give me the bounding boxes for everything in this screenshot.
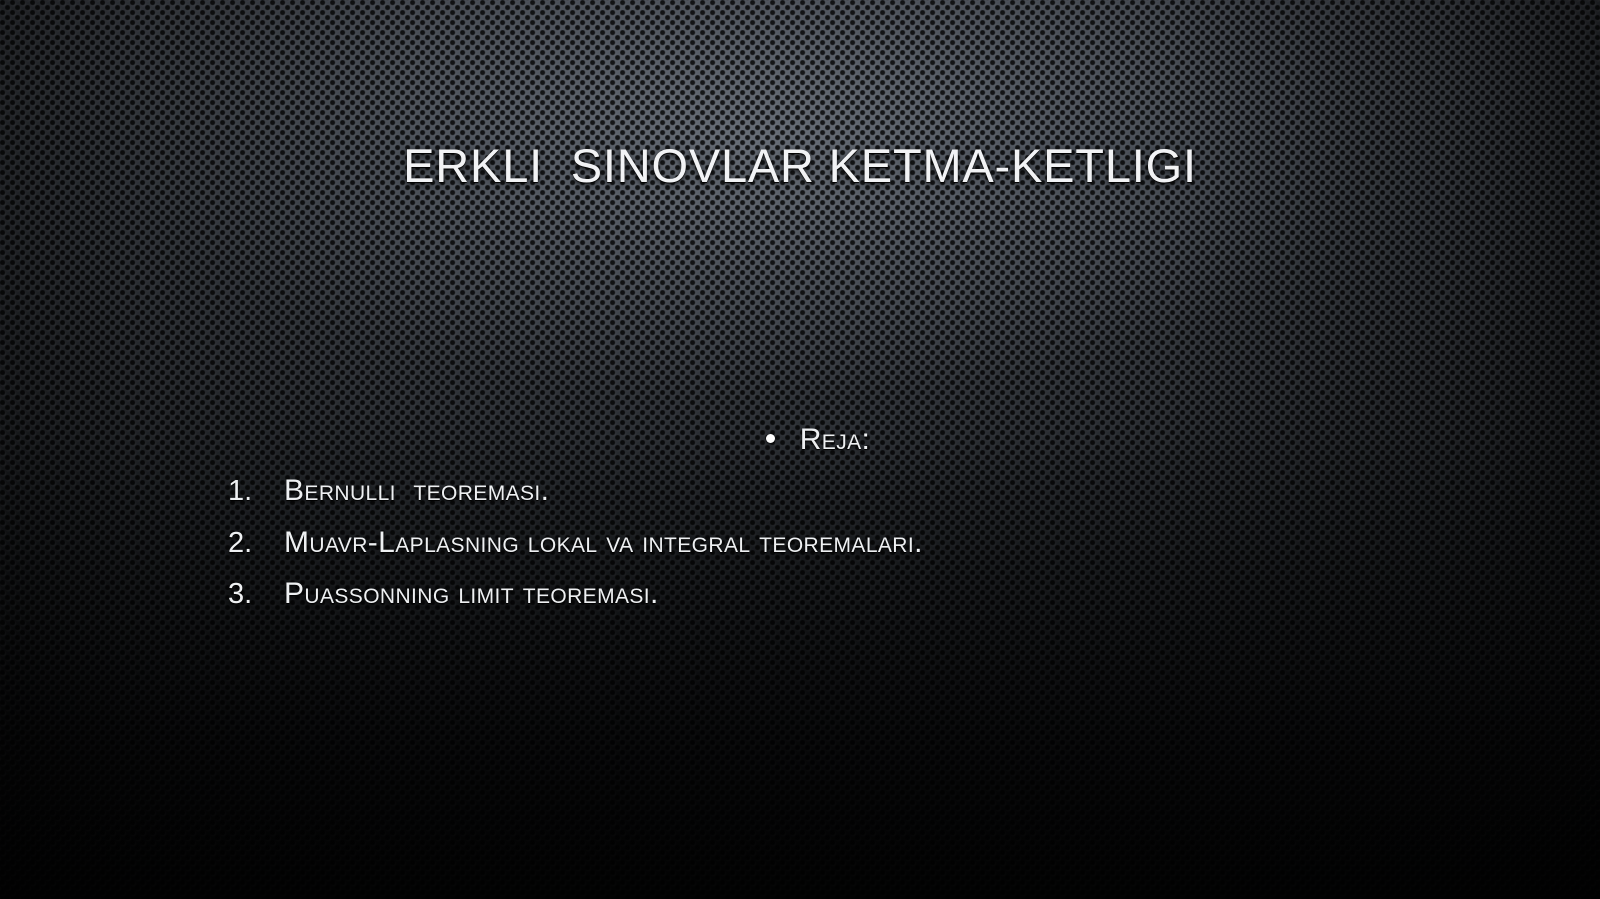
agenda-heading-row: Reja: <box>228 425 1372 455</box>
list-item: 3. Puassonning limit teoremasi. <box>228 578 1372 610</box>
list-item: 1. Bernulli teoremasi. <box>228 475 1372 507</box>
list-item-text: Muavr-Laplasning lokal va integral teore… <box>284 527 923 559</box>
list-item-number: 2. <box>228 529 284 558</box>
agenda-heading-label: Reja: <box>800 425 871 455</box>
list-item: 2. Muavr-Laplasning lokal va integral te… <box>228 527 1372 559</box>
list-item-text: Bernulli teoremasi. <box>284 475 549 507</box>
slide-title: ERKLI SINOVLAR KETMA-KETLIGI <box>0 141 1600 192</box>
slide-content: ERKLI SINOVLAR KETMA-KETLIGI Reja: 1. Be… <box>0 0 1600 899</box>
agenda-numbered-list: 1. Bernulli teoremasi. 2. Muavr-Laplasni… <box>228 475 1372 610</box>
bullet-dot-icon <box>766 434 775 443</box>
presentation-slide: ERKLI SINOVLAR KETMA-KETLIGI Reja: 1. Be… <box>0 0 1600 899</box>
slide-body: Reja: 1. Bernulli teoremasi. 2. Muavr-La… <box>228 425 1372 610</box>
list-item-number: 3. <box>228 580 284 609</box>
list-item-text: Puassonning limit teoremasi. <box>284 578 659 610</box>
list-item-number: 1. <box>228 477 284 506</box>
